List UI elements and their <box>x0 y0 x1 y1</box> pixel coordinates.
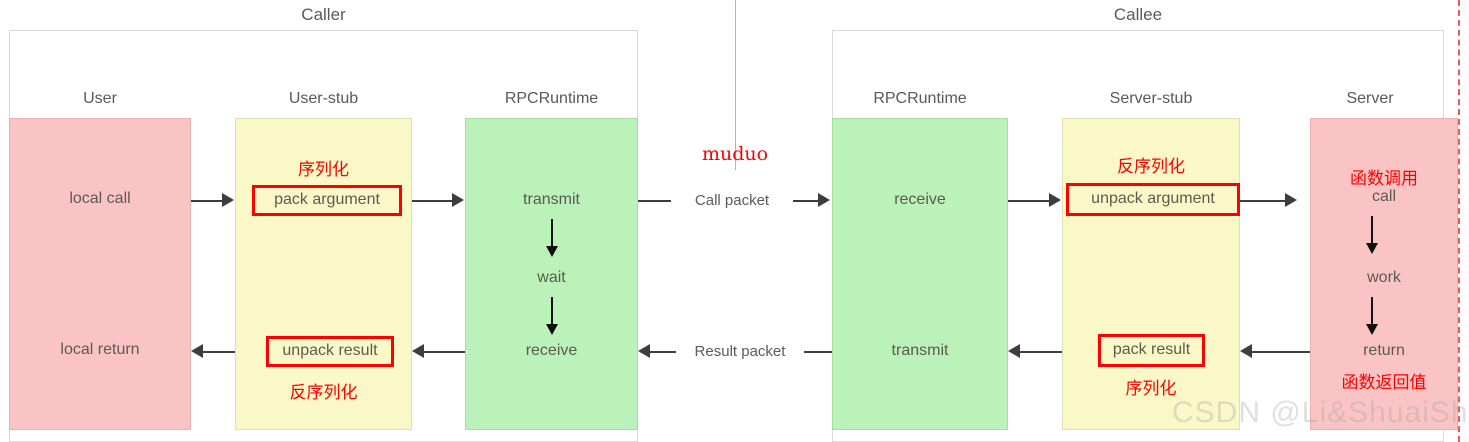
connector-runtime-to-userstub-line <box>424 351 465 353</box>
step-server-runtime-transmit: transmit <box>832 342 1008 360</box>
server-call-to-work-arrowhead <box>1366 243 1378 254</box>
connector-runtime-to-userstub-arrowhead <box>412 344 424 358</box>
connector-serverstub-to-runtime-arrowhead <box>1008 344 1020 358</box>
connector-serverstub-to-server-line <box>1240 200 1286 202</box>
connector-result-packet-arrowhead <box>638 344 650 358</box>
server-work-to-return-line <box>1371 297 1373 326</box>
connector-serverstub-to-runtime-line <box>1020 351 1062 353</box>
server-work-to-return-arrowhead <box>1366 324 1378 335</box>
step-client-wait: wait <box>465 269 638 287</box>
column-label-user: User <box>9 90 191 108</box>
step-local-return: local return <box>9 341 191 359</box>
step-pack-argument: pack argument <box>252 191 402 209</box>
edge-label-call-packet: Call packet <box>671 192 793 209</box>
client-wait-to-receive-arrowhead <box>546 324 558 335</box>
step-client-receive: receive <box>465 342 638 360</box>
connector-server-to-serverstub-arrowhead <box>1240 344 1252 358</box>
connector-user-to-userstub-line <box>191 200 223 202</box>
client-transmit-to-wait-arrowhead <box>546 246 558 257</box>
column-label-server-stub: Server-stub <box>1062 90 1240 108</box>
client-transmit-to-wait-line <box>551 219 553 248</box>
annotation-deserialize-server: 反序列化 <box>1062 152 1240 177</box>
step-server-runtime-receive: receive <box>832 191 1008 209</box>
lane-rpcruntime-server <box>832 118 1008 430</box>
group-title-caller: Caller <box>9 5 638 25</box>
csdn-watermark: CSDN @Li&ShuaiShuai <box>1172 396 1469 430</box>
edge-label-result-packet: Result packet <box>676 343 804 360</box>
lane-user <box>9 118 191 430</box>
step-server-work: work <box>1310 269 1458 287</box>
connector-userstub-to-runtime-arrowhead <box>452 193 464 207</box>
step-client-transmit: transmit <box>465 191 638 209</box>
step-server-return: return <box>1310 342 1458 360</box>
connector-server-to-serverstub-line <box>1252 351 1310 353</box>
group-title-callee: Callee <box>832 5 1444 25</box>
column-label-user-stub: User-stub <box>235 90 412 108</box>
connector-userstub-to-runtime-line <box>412 200 453 202</box>
step-pack-result: pack result <box>1098 341 1205 359</box>
server-call-to-work-line <box>1371 216 1373 245</box>
connector-serverstub-to-server-arrowhead <box>1285 193 1297 207</box>
annotation-function-return: 函数返回值 <box>1310 368 1458 393</box>
annotation-function-call: 函数调用 <box>1310 164 1458 189</box>
column-label-rpcruntime-server: RPCRuntime <box>832 90 1008 108</box>
connector-runtime-to-serverstub-arrowhead <box>1049 193 1061 207</box>
connector-call-packet-arrowhead <box>818 193 830 207</box>
annotation-serialize-client: 序列化 <box>235 155 412 180</box>
column-label-server: Server <box>1296 90 1444 108</box>
connector-runtime-to-serverstub-line <box>1008 200 1050 202</box>
column-label-rpcruntime-client: RPCRuntime <box>465 90 638 108</box>
step-unpack-argument: unpack argument <box>1066 190 1240 208</box>
right-boundary-dashed-line <box>1458 0 1460 442</box>
connector-userstub-to-user-line <box>203 351 235 353</box>
middleware-label-muduo: muduo <box>660 143 810 165</box>
client-wait-to-receive-line <box>551 297 553 326</box>
step-local-call: local call <box>9 190 191 208</box>
step-server-call: call <box>1310 188 1458 206</box>
step-unpack-result: unpack result <box>266 342 394 360</box>
connector-user-to-userstub-arrowhead <box>222 193 234 207</box>
rpc-flow-diagram: Caller Callee User User-stub RPCRuntime … <box>0 0 1469 442</box>
connector-userstub-to-user-arrowhead <box>191 344 203 358</box>
annotation-deserialize-client: 反序列化 <box>235 378 412 403</box>
